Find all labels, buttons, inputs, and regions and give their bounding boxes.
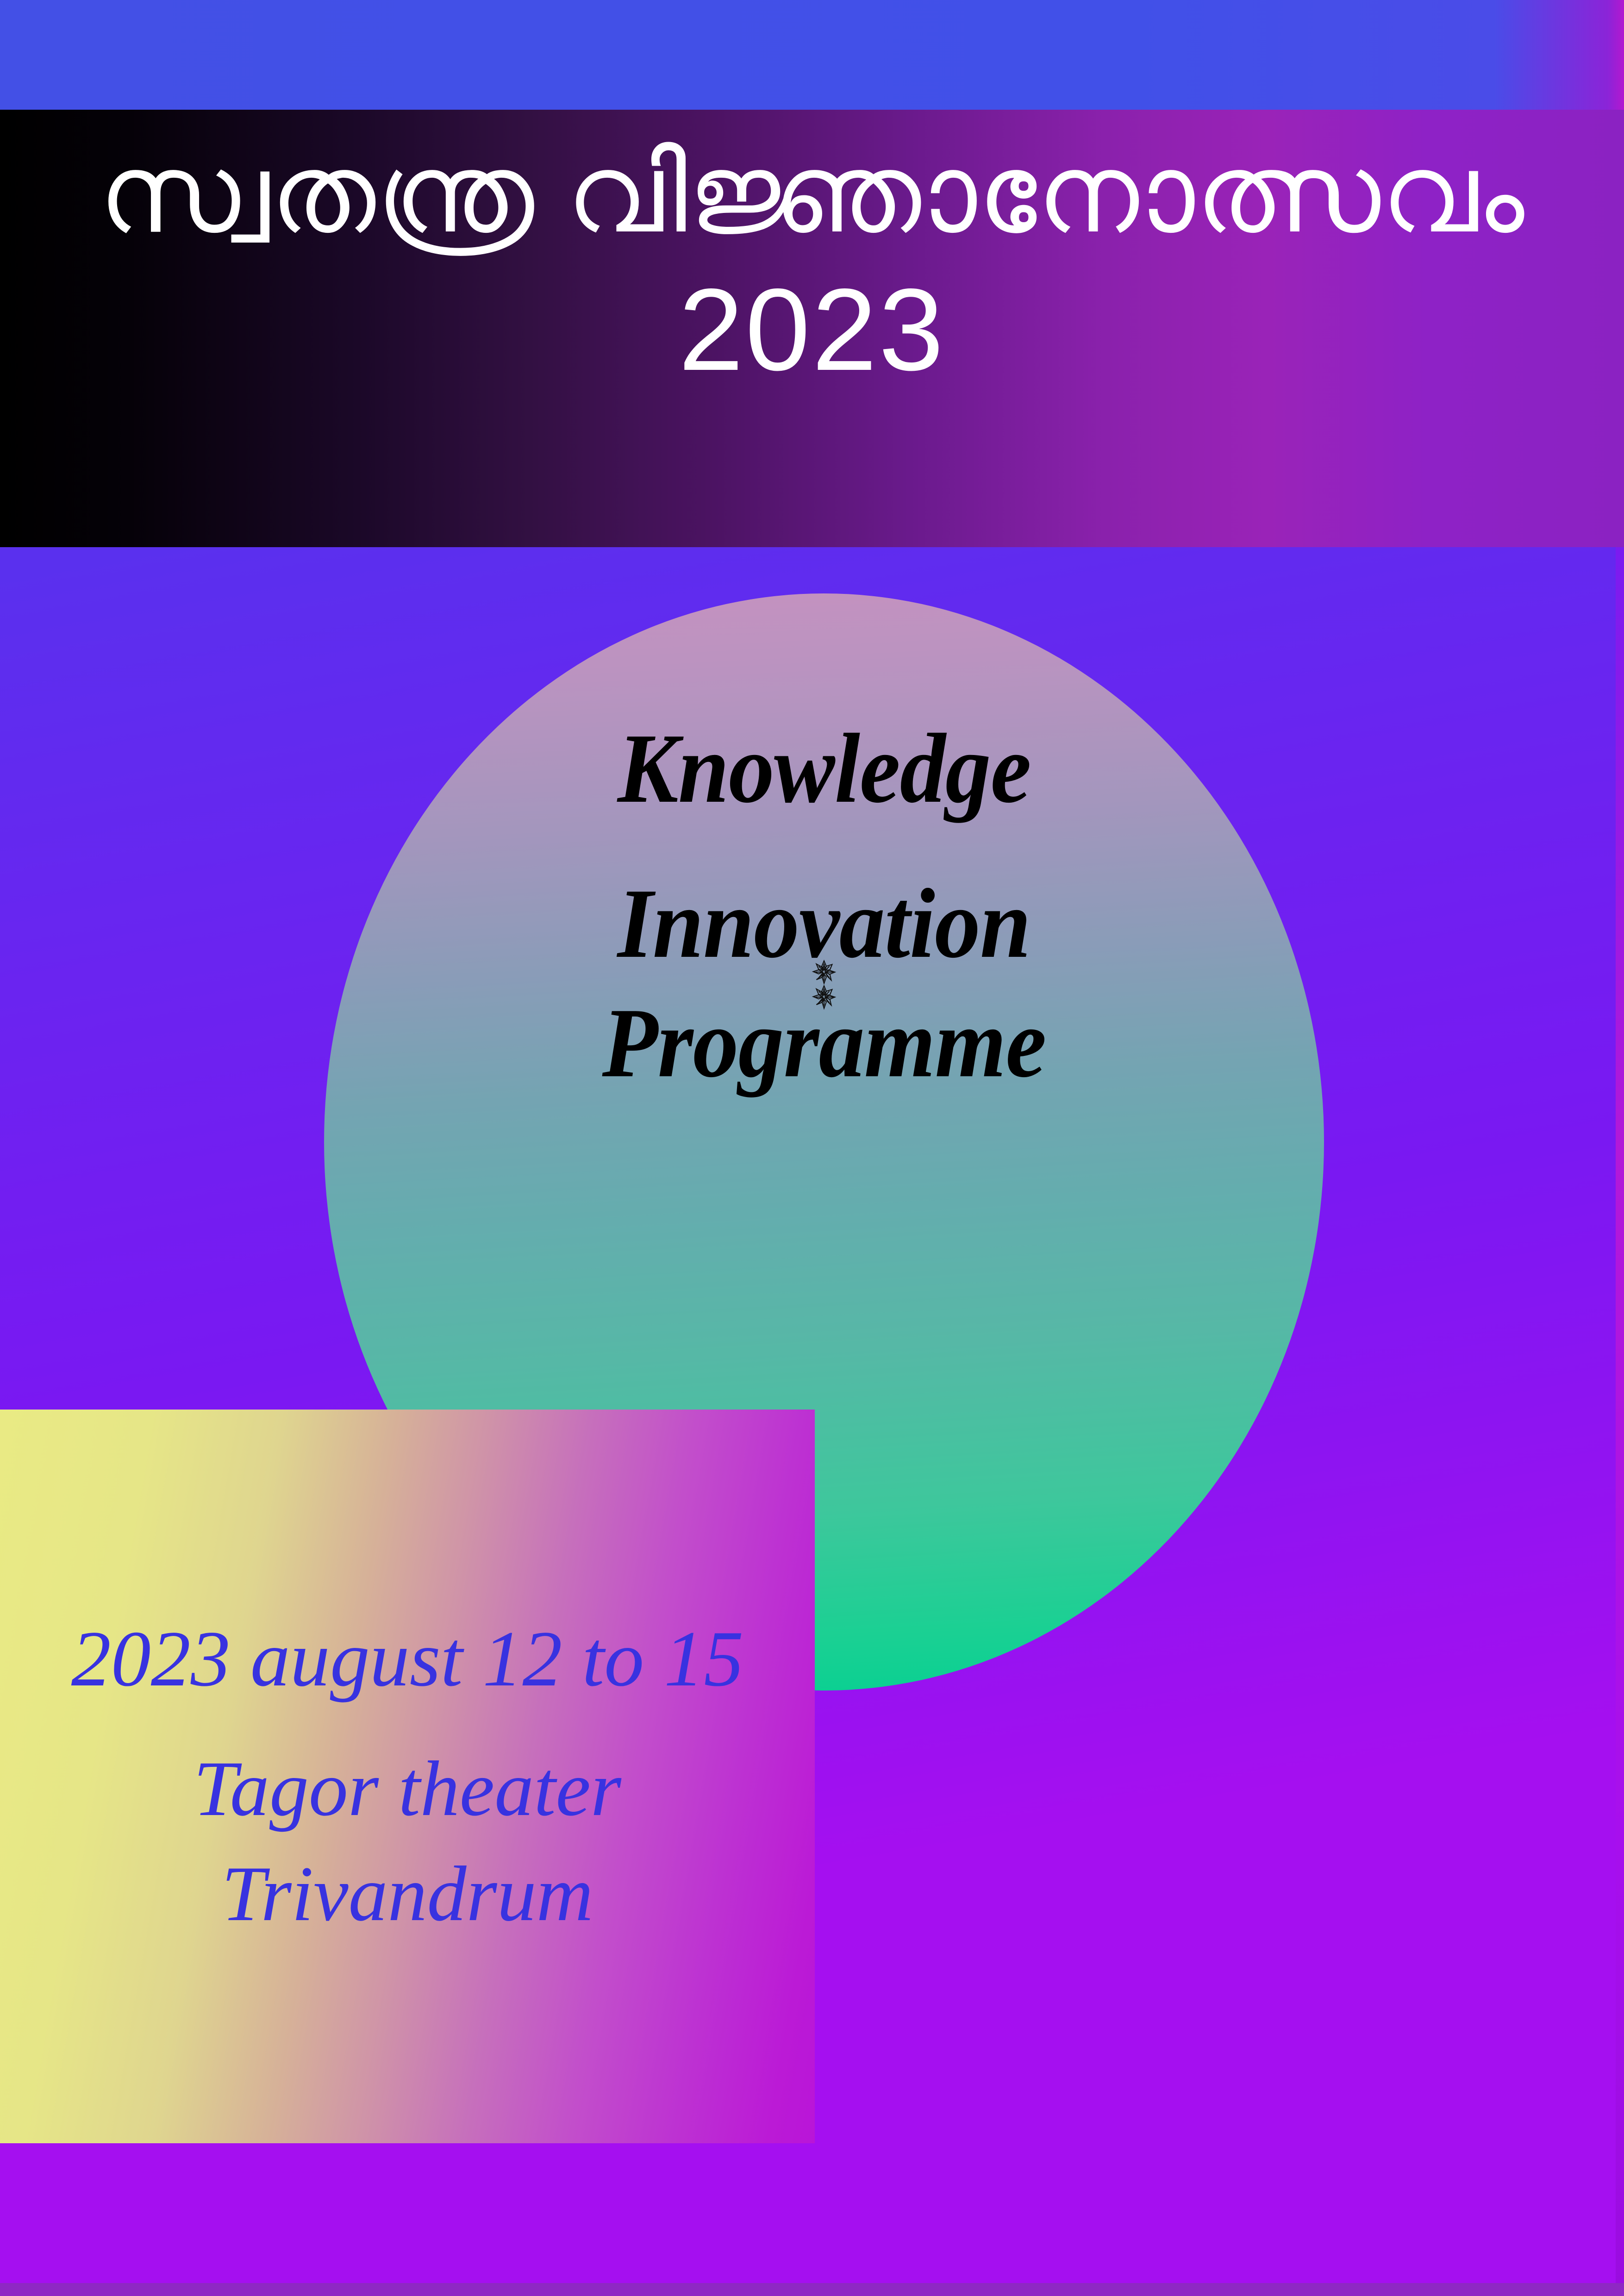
poster-title-year: 2023: [679, 270, 946, 389]
title-banner: സ്വതന്ത്ര വിജ്ഞാനോത്സവം 2023: [0, 110, 1624, 547]
flower-ornament-group: [810, 959, 838, 1009]
event-venue: Tagor theater: [14, 1738, 801, 1840]
event-poster: സ്വതന്ത്ര വിജ്ഞാനോത്സവം 2023 Knowledge I…: [0, 0, 1624, 2296]
flower-ornament-icon: [810, 957, 838, 986]
event-dates: 2023 august 12 to 15: [14, 1608, 801, 1711]
event-details-box: 2023 august 12 to 15 Tagor theater Triva…: [0, 1410, 815, 2143]
poster-title-malayalam: സ്വതന്ത്ര വിജ്ഞാനോത്സവം: [99, 129, 1525, 259]
programme-title-line-1: Knowledge: [618, 718, 1031, 818]
top-color-bar: [0, 0, 1624, 110]
flower-ornament-icon: [810, 982, 838, 1011]
bottom-color-strip: [0, 2283, 1624, 2296]
event-city: Trivandrum: [14, 1843, 801, 1945]
